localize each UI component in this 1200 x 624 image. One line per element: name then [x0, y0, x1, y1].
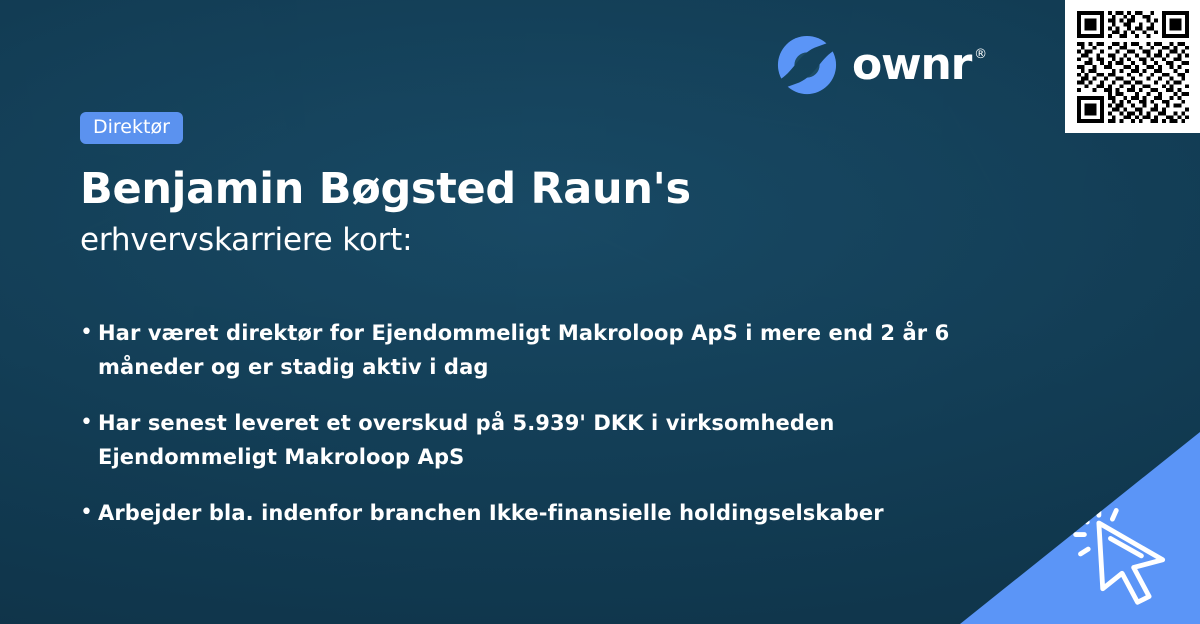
status-badge: Direktør [80, 112, 183, 144]
page-title: Benjamin Bøgsted Raun's [80, 164, 960, 214]
office-background-photo [0, 0, 1200, 624]
ownr-logo[interactable]: ownr ® [776, 34, 987, 96]
registered-trademark-symbol: ® [974, 47, 987, 63]
ownr-circle-swoosh-icon [776, 34, 838, 96]
list-item: • Arbejder bla. indenfor branchen Ikke-f… [80, 496, 980, 530]
list-item-text: Arbejder bla. indenfor branchen Ikke-fin… [98, 496, 884, 530]
list-item-text: Har været direktør for Ejendommeligt Mak… [98, 316, 980, 384]
bullet-dot-icon: • [80, 496, 98, 530]
background-color-overlay [0, 0, 1200, 624]
bullet-dot-icon: • [80, 316, 98, 350]
headline-block: Direktør Benjamin Bøgsted Raun's erhverv… [80, 112, 960, 260]
list-item-text: Har senest leveret et overskud på 5.939'… [98, 406, 980, 474]
list-item: • Har været direktør for Ejendommeligt M… [80, 316, 980, 384]
qr-code-icon[interactable] [1077, 11, 1189, 123]
list-item: • Har senest leveret et overskud på 5.93… [80, 406, 980, 474]
bullet-dot-icon: • [80, 406, 98, 440]
career-facts-list: • Har været direktør for Ejendommeligt M… [80, 316, 980, 530]
logo-text: ownr [852, 43, 971, 87]
qr-code-panel[interactable] [1065, 0, 1200, 133]
ownr-wordmark: ownr ® [852, 43, 987, 87]
page-subtitle: erhvervskarriere kort: [80, 220, 960, 260]
business-card-banner: ownr ® Direktør Benjamin Bøgsted Raun's … [0, 0, 1200, 624]
